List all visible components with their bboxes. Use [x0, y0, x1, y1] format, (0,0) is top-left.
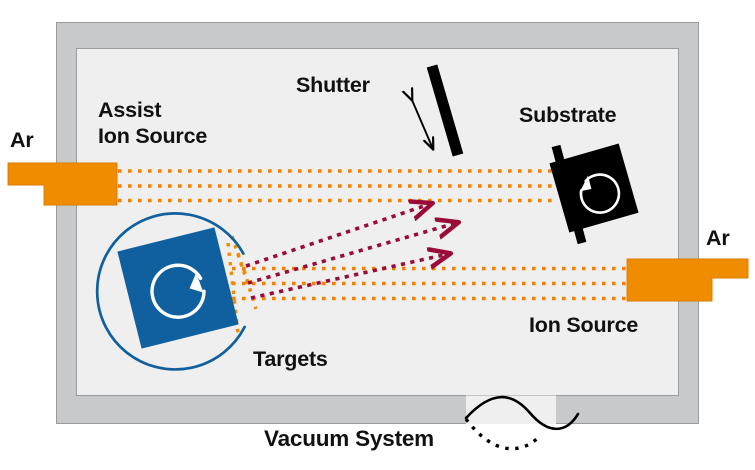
label-ion-source: Ion Source [529, 313, 638, 337]
chamber-schematic-svg [0, 0, 755, 470]
label-assist-ion-source-line1: Assist [98, 98, 161, 122]
label-targets: Targets [253, 347, 328, 371]
label-substrate: Substrate [519, 103, 616, 127]
ar-gas-inlet-right [627, 259, 748, 301]
label-shutter: Shutter [296, 73, 370, 97]
label-ar-left: Ar [10, 128, 34, 152]
label-assist-ion-source-line2: Ion Source [98, 124, 207, 148]
label-ar-right: Ar [706, 226, 730, 250]
label-vacuum-system: Vacuum System [264, 426, 434, 451]
ar-gas-inlet-left [8, 163, 117, 205]
diagram-canvas: Ar Assist Ion Source Shutter Substrate T… [0, 0, 755, 470]
